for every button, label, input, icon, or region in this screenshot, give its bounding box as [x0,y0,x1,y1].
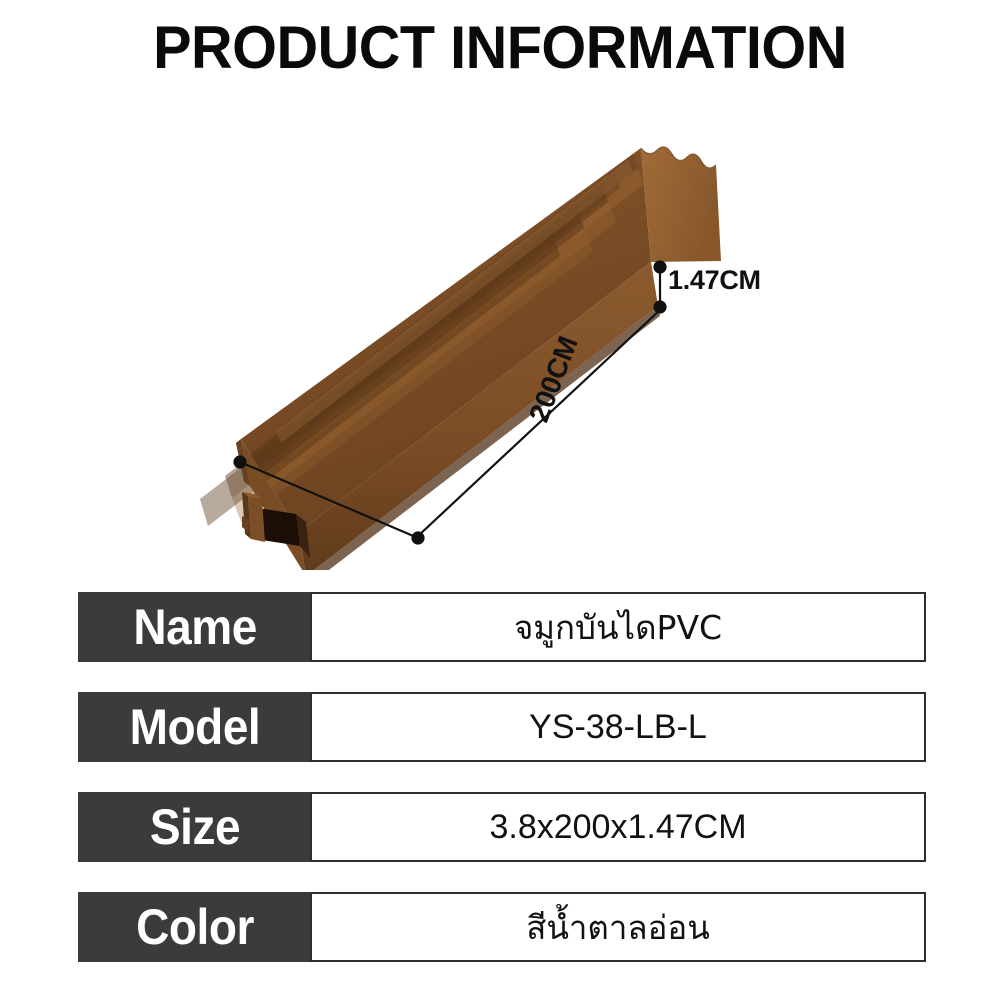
spec-value-color: สีน้ำตาลอ่อน [526,911,710,944]
dimension-label-height: 1.47CM [668,265,761,296]
page-title: PRODUCT INFORMATION [20,18,980,78]
spec-value-size: 3.8x200x1.47CM [489,810,746,844]
table-row: Model YS-38-LB-L [78,692,928,762]
spec-value-cell-name: จมูกบันไดPVC [310,592,926,662]
spec-value-model: YS-38-LB-L [529,710,707,744]
product-3d-render [0,110,1000,570]
dim-dot-width-left [235,457,246,468]
spec-label-cell-color: Color [78,892,312,962]
product-body [200,147,726,570]
dim-dot-width-right [413,533,424,544]
spec-value-cell-size: 3.8x200x1.47CM [310,792,926,862]
spec-label-size: Size [150,802,240,852]
spec-label-cell-size: Size [78,792,312,862]
spec-value-cell-color: สีน้ำตาลอ่อน [310,892,926,962]
table-row: Name จมูกบันไดPVC [78,592,928,662]
product-illustration: 1.47CM 200CM 3.8CM [0,110,1000,570]
table-row: Size 3.8x200x1.47CM [78,792,928,862]
spec-label-color: Color [136,902,254,952]
dim-dot-height-top [655,262,666,273]
spec-value-cell-model: YS-38-LB-L [310,692,926,762]
spec-label-cell-name: Name [78,592,312,662]
spec-label-name: Name [133,602,256,652]
spec-value-name: จมูกบันไดPVC [514,611,722,644]
table-row: Color สีน้ำตาลอ่อน [78,892,928,962]
spec-label-cell-model: Model [78,692,312,762]
spec-label-model: Model [130,702,261,752]
product-spec-table: Name จมูกบันไดPVC Model YS-38-LB-L Size … [78,592,928,962]
